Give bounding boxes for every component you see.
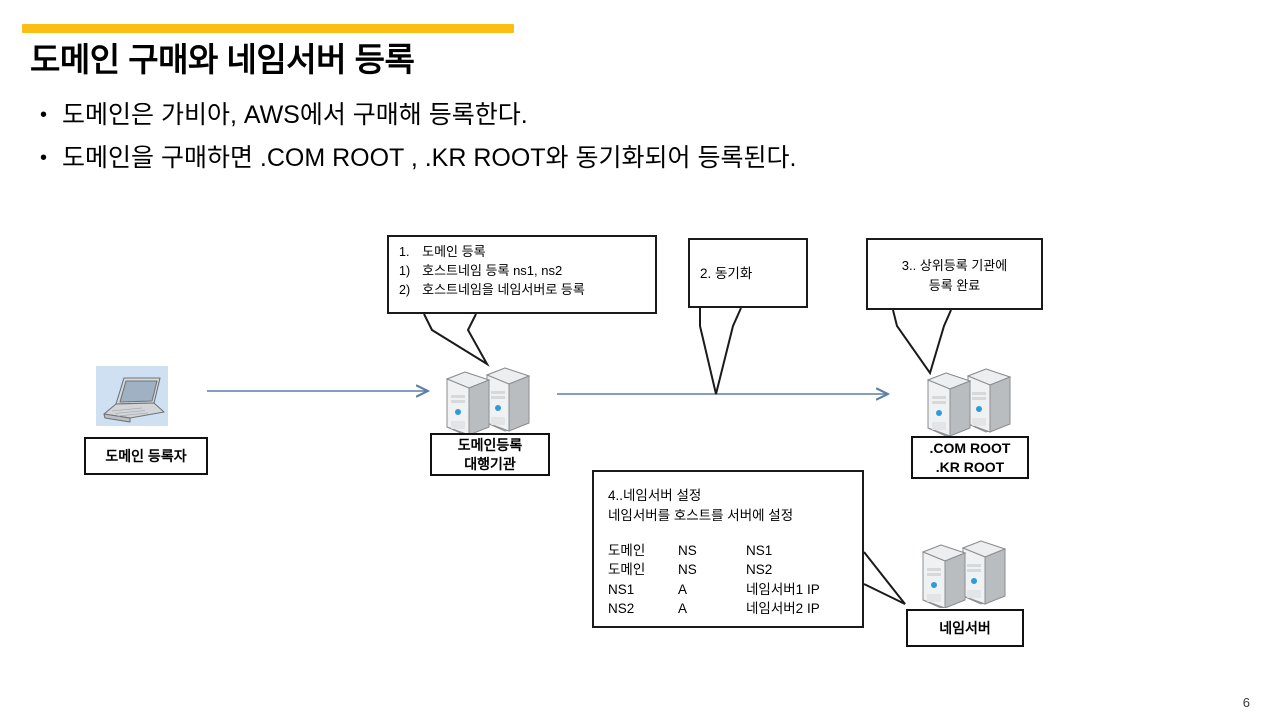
record-value: 네임서버2 IP [746, 599, 820, 619]
node-label-text: 도메인등록 대행기관 [458, 436, 522, 472]
record-name: 도메인 [608, 541, 678, 561]
callout-step-4-line1: 4..네임서버 설정 [608, 486, 862, 506]
node-label-line2: .KR ROOT [930, 458, 1011, 476]
list-item-label: 호스트네임을 네임서버로 등록 [422, 281, 585, 300]
record-type: A [678, 599, 746, 619]
record-type: NS [678, 560, 746, 580]
table-row: NS2 A 네임서버2 IP [608, 599, 820, 619]
laptop-icon [96, 366, 168, 426]
callout-step-2-text: 2. 동기화 [690, 240, 806, 290]
list-item-number: 1. [399, 243, 422, 262]
callout-step-3-line2: 등록 완료 [877, 276, 1032, 296]
list-item-number: 1) [399, 262, 422, 281]
diagram-canvas: 1. 도메인 등록 1) 호스트네임 등록 ns1, ns2 2) 호스트네임을… [0, 0, 1280, 720]
list-item-label: 호스트네임 등록 ns1, ns2 [422, 262, 585, 281]
record-type: A [678, 580, 746, 600]
list-item: 2) 호스트네임을 네임서버로 등록 [399, 281, 585, 300]
server-pair-icon [443, 365, 533, 435]
node-label-nameserver: 네임서버 [906, 609, 1024, 647]
callout-step-4: 4..네임서버 설정 네임서버를 호스트를 서버에 설정 도메인 NS NS1 … [592, 470, 864, 628]
table-row: NS1 A 네임서버1 IP [608, 580, 820, 600]
node-label-text: .COM ROOT .KR ROOT [930, 439, 1011, 475]
callout-step-3: 3.. 상위등록 기관에 등록 완료 [866, 238, 1043, 310]
list-item-number: 2) [399, 281, 422, 300]
record-name: NS1 [608, 580, 678, 600]
node-label-registrant: 도메인 등록자 [84, 437, 208, 475]
node-label-text: 도메인 등록자 [105, 447, 186, 465]
list-item: 1. 도메인 등록 [399, 243, 585, 262]
table-row: 도메인 NS NS2 [608, 560, 820, 580]
node-label-registrar: 도메인등록 대행기관 [430, 433, 550, 476]
callout-step-1: 1. 도메인 등록 1) 호스트네임 등록 ns1, ns2 2) 호스트네임을… [387, 235, 657, 314]
record-name: 도메인 [608, 560, 678, 580]
callout-step-4-line2: 네임서버를 호스트를 서버에 설정 [608, 506, 862, 526]
record-value: NS2 [746, 560, 820, 580]
page-number: 6 [1243, 695, 1250, 710]
server-pair-icon [919, 538, 1009, 608]
server-pair-icon [924, 366, 1014, 436]
node-label-text: 네임서버 [939, 619, 991, 637]
record-type: NS [678, 541, 746, 561]
node-label-line2: 대행기관 [458, 455, 522, 473]
node-label-line1: .COM ROOT [930, 439, 1011, 457]
record-value: 네임서버1 IP [746, 580, 820, 600]
record-name: NS2 [608, 599, 678, 619]
record-value: NS1 [746, 541, 820, 561]
node-label-root: .COM ROOT .KR ROOT [911, 436, 1029, 479]
callout-step-3-line1: 3.. 상위등록 기관에 [877, 256, 1032, 276]
callout-step-2: 2. 동기화 [688, 238, 808, 308]
node-label-line1: 도메인등록 [458, 436, 522, 454]
dns-record-table: 도메인 NS NS1 도메인 NS NS2 NS1 A 네임서버1 IP NS2… [608, 541, 820, 619]
table-row: 도메인 NS NS1 [608, 541, 820, 561]
list-item-label: 도메인 등록 [422, 243, 585, 262]
list-item: 1) 호스트네임 등록 ns1, ns2 [399, 262, 585, 281]
